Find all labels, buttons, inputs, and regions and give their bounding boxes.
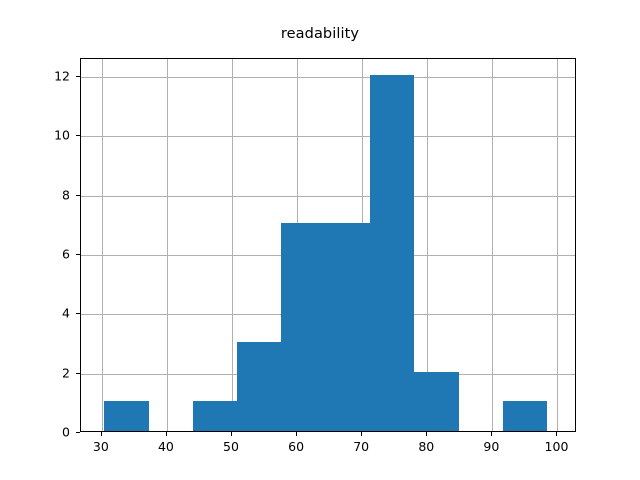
y-tick-label: 6: [26, 246, 70, 261]
y-tick-mark: [76, 76, 80, 77]
histogram-bar: [281, 223, 325, 431]
x-tick-mark: [491, 432, 492, 436]
gridline-vertical: [232, 59, 233, 431]
x-tick-label: 30: [93, 439, 109, 454]
gridline-vertical: [102, 59, 103, 431]
x-tick-label: 100: [545, 439, 569, 454]
y-tick-label: 0: [26, 425, 70, 440]
plot-area: [80, 58, 576, 432]
x-tick-label: 70: [353, 439, 369, 454]
x-tick-mark: [101, 432, 102, 436]
y-tick-mark: [76, 254, 80, 255]
y-tick-mark: [76, 195, 80, 196]
y-tick-label: 10: [26, 128, 70, 143]
x-tick-mark: [361, 432, 362, 436]
x-tick-label: 50: [223, 439, 239, 454]
gridline-vertical: [492, 59, 493, 431]
x-tick-mark: [556, 432, 557, 436]
x-tick-mark: [166, 432, 167, 436]
y-tick-mark: [76, 432, 80, 433]
x-tick-mark: [296, 432, 297, 436]
histogram-bar: [237, 342, 281, 431]
gridline-horizontal: [81, 136, 575, 137]
y-tick-mark: [76, 135, 80, 136]
histogram-bar: [414, 372, 458, 431]
x-tick-mark: [231, 432, 232, 436]
x-tick-label: 90: [483, 439, 499, 454]
gridline-vertical: [167, 59, 168, 431]
y-tick-mark: [76, 313, 80, 314]
y-tick-label: 4: [26, 306, 70, 321]
histogram-bar: [193, 401, 237, 431]
matplotlib-figure: readability 30405060708090100 024681012: [0, 0, 640, 480]
y-tick-label: 12: [26, 68, 70, 83]
gridline-horizontal: [81, 196, 575, 197]
y-tick-label: 8: [26, 187, 70, 202]
histogram-bar: [104, 401, 148, 431]
gridline-vertical: [557, 59, 558, 431]
histogram-bar: [370, 75, 414, 431]
x-tick-label: 80: [418, 439, 434, 454]
histogram-bar: [503, 401, 547, 431]
gridline-horizontal: [81, 77, 575, 78]
x-tick-label: 60: [288, 439, 304, 454]
chart-title: readability: [0, 26, 640, 42]
y-tick-label: 2: [26, 365, 70, 380]
y-tick-mark: [76, 373, 80, 374]
histogram-bar: [326, 223, 370, 431]
x-tick-label: 40: [158, 439, 174, 454]
x-tick-mark: [426, 432, 427, 436]
